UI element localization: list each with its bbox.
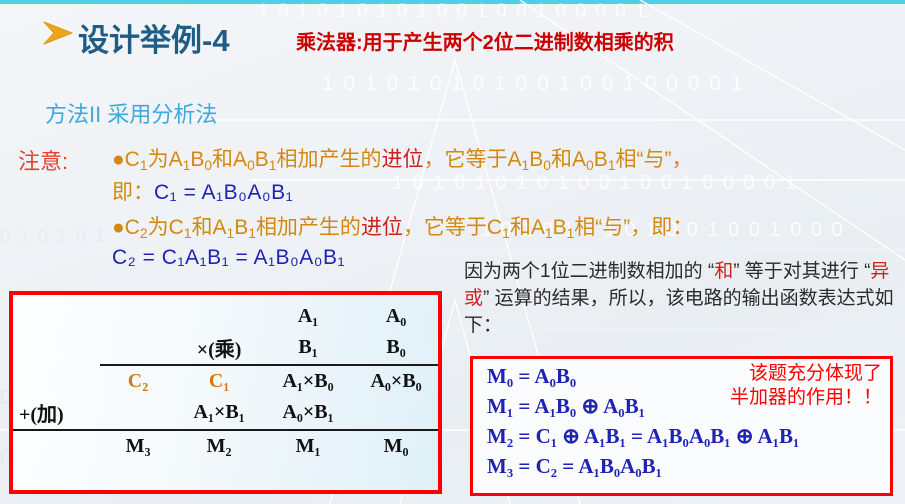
table-cell: [100, 301, 177, 331]
half-adder-note-line1: 该题充分体现了: [730, 362, 882, 386]
output-formula-box: M₀ = A₀B₀ M₁ = A₁B₀ ⊕ A₀B₁ M₂ = C₁ ⊕ A₁B…: [470, 356, 893, 496]
table-row: C₂ C₁ A₁×B₀ A₀×B₀: [13, 366, 438, 396]
slide-header: 设计举例-4 乘法器:用于产生两个2位二进制数相乘的积: [0, 8, 905, 56]
table-cell: A₁: [262, 301, 354, 331]
note-seg: 为A: [148, 148, 183, 171]
note-seg: B: [594, 148, 608, 171]
binary-watermark: 0 1 0 1 0 1: [0, 226, 107, 247]
note-seg: B: [255, 148, 269, 171]
note-sub: 1: [545, 225, 553, 241]
note-sub: 1: [502, 225, 510, 241]
note-seg: B: [234, 216, 248, 239]
note-sub: 2: [140, 225, 148, 241]
page-subtitle: 乘法器:用于产生两个2位二进制数相乘的积: [296, 26, 674, 55]
table-cell-op: [13, 331, 100, 364]
paragraph-seg: 因为两个1位二进制数相加的 “: [464, 261, 714, 282]
note-highlight: 进位: [361, 216, 403, 239]
chevron-right-icon: [42, 20, 74, 46]
note-seg: 和A: [212, 148, 247, 171]
table-row: M₃ M₂ M₁ M₀: [13, 431, 438, 461]
note-seg: 和A: [551, 148, 586, 171]
formula-m0: M₀ = A₀B₀: [487, 364, 576, 389]
formula-m1: M₁ = A₁B₀ ⊕ A₀B₁: [487, 394, 645, 419]
top-accent-rule: [0, 0, 905, 4]
note-seg: ●C: [112, 216, 140, 239]
note-sub: 0: [586, 157, 594, 173]
note-seg: 为C: [148, 216, 184, 239]
table-cell: A₀×B₁: [262, 396, 354, 429]
table-cell-c2: C₂: [100, 366, 177, 396]
table-row: ×(乘) B₁ B₀: [13, 331, 438, 364]
multiplication-table: A₁ A₀ ×(乘) B₁ B₀ C₂ C₁ A₁×B₀ A₀×B₀: [13, 301, 438, 461]
table-cell: A₀: [354, 301, 438, 331]
formula-c1: C₁ = A₁B₀A₀B₁: [154, 181, 293, 204]
paragraph-seg: ” 等于对其进行 “: [733, 261, 870, 282]
table-cell: [354, 396, 438, 429]
note-label: 注意:: [18, 144, 68, 176]
table-cell-op: +(加): [13, 396, 100, 429]
note-seg: 和A: [510, 216, 545, 239]
note-seg: B: [553, 216, 567, 239]
note-seg: ●C: [112, 148, 140, 171]
explanation-paragraph: 因为两个1位二进制数相加的 “和” 等于对其进行 “异或” 运算的结果，所以，该…: [464, 258, 894, 339]
slide-canvas: 1 0 1 0 1 0 1 0 1 0 0 1 0 0 1 0 0 0 0 1 …: [0, 0, 905, 504]
paragraph-highlight-sum: 和: [714, 261, 733, 282]
binary-watermark: 1 0 1 0 1 0 1 0 1 0 0 1 0 0 1 0 0 0 0 1: [392, 172, 798, 195]
table-cell: A₀×B₀: [354, 366, 438, 396]
note-sub: 0: [204, 157, 212, 173]
note-line-1: ●C1为A1B0和A0B1相加产生的进位，它等于A1B0和A0B1相“与”，: [112, 143, 692, 173]
note-seg: 相“与”，: [615, 148, 692, 171]
note-seg: 相加产生的: [256, 216, 361, 239]
table-cell-op: [13, 431, 100, 461]
note-sub: 0: [543, 157, 551, 173]
table-cell-op: [13, 366, 100, 396]
multiplication-table-box: A₁ A₀ ×(乘) B₁ B₀ C₂ C₁ A₁×B₀ A₀×B₀: [9, 291, 442, 494]
table-cell: ×(乘): [176, 331, 262, 364]
table-cell: [100, 331, 177, 364]
note-seg: ，它等于A: [424, 148, 522, 171]
table-cell: A₁×B₀: [262, 366, 354, 396]
table-cell: B₀: [354, 331, 438, 364]
page-title: 设计举例-4: [78, 15, 230, 60]
note-line-4: C₂ = C₁A₁B₁ = A₁B₀A₀B₁: [112, 246, 345, 270]
table-row: A₁ A₀: [13, 301, 438, 331]
table-cell: A₁×B₁: [176, 396, 262, 429]
table-cell: [100, 396, 177, 429]
table-cell: M₃: [100, 431, 177, 461]
table-cell: B₁: [262, 331, 354, 364]
note-seg: B: [190, 148, 204, 171]
note-seg: 和A: [191, 216, 226, 239]
table-cell: M₁: [262, 431, 354, 461]
table-cell-op: [13, 301, 100, 331]
binary-watermark: 1 0 1 0 1 0 1 0 1 0 0 1 0 0 1 0 0 0 0 1: [322, 72, 744, 96]
half-adder-note-line2: 半加器的作用！！: [730, 386, 882, 410]
note-prefix: 即：: [112, 181, 154, 204]
note-sub: 1: [248, 225, 256, 241]
table-cell: M₂: [176, 431, 262, 461]
note-seg: 相加产生的: [277, 148, 382, 171]
table-cell-c1: C₁: [176, 366, 262, 396]
note-line-3: ●C2为C1和A1B1相加产生的进位，它等于C1和A1B1相“与”，即：: [112, 211, 693, 241]
note-seg: ，它等于C: [403, 216, 502, 239]
note-seg: B: [529, 148, 543, 171]
formula-c2: C₂ = C₁A₁B₁ = A₁B₀A₀B₁: [112, 246, 345, 269]
note-sub: 1: [140, 157, 148, 173]
half-adder-note: 该题充分体现了 半加器的作用！！: [730, 362, 882, 410]
note-sub: 0: [247, 157, 255, 173]
note-sub: 1: [269, 157, 277, 173]
formula-m3: M₃ = C₂ = A₁B₀A₀B₁: [487, 454, 662, 479]
note-line-2: 即：C₁ = A₁B₀A₀B₁: [112, 176, 293, 206]
table-row: +(加) A₁×B₁ A₀×B₁: [13, 396, 438, 429]
paragraph-seg: ” 运算的结果，所以，该电路的输出函数表达式如下：: [464, 288, 894, 336]
table-cell: M₀: [354, 431, 438, 461]
note-highlight: 进位: [382, 148, 424, 171]
method-heading: 方法II 采用分析法: [45, 97, 217, 129]
formula-m2: M₂ = C₁ ⊕ A₁B₁ = A₁B₀A₀B₁ ⊕ A₁B₁: [487, 424, 799, 449]
note-seg: 相“与”，即：: [574, 216, 693, 239]
table-cell: [176, 301, 262, 331]
